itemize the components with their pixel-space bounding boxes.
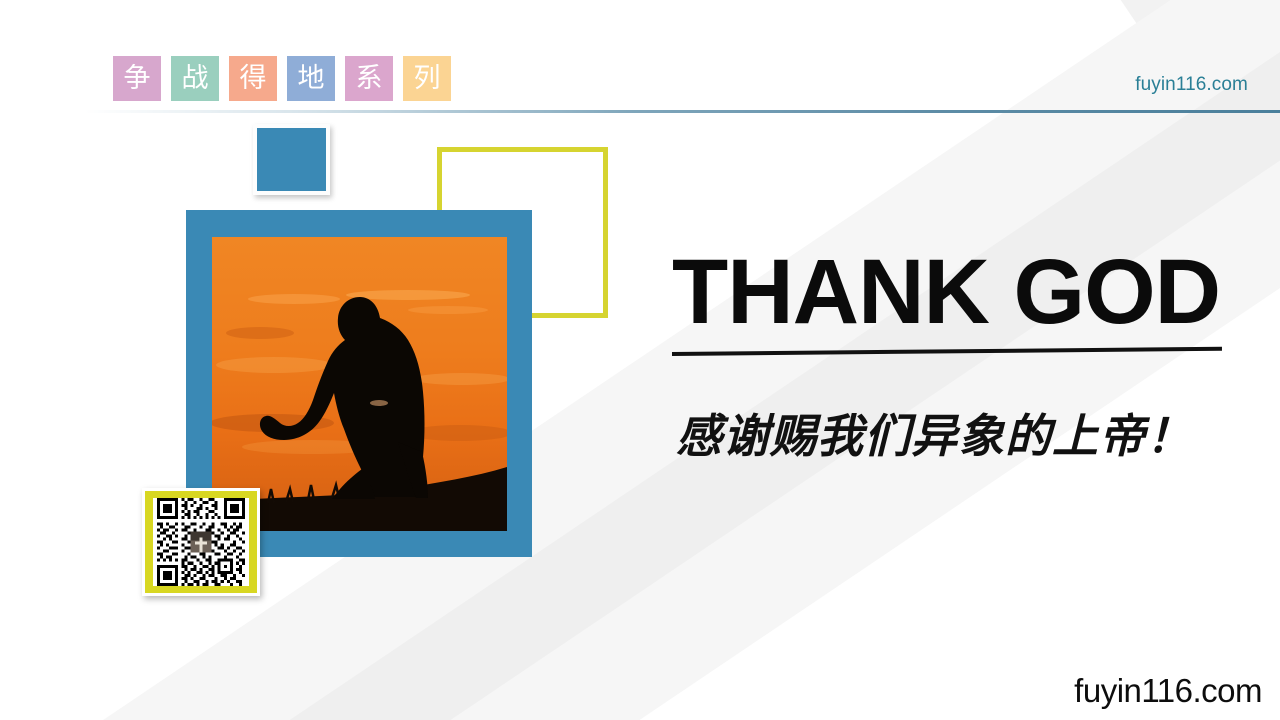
slide-canvas: 争 战 得 地 系 列 fuyin116.com xyxy=(0,0,1280,720)
qr-matrix xyxy=(153,498,249,586)
header-divider-rule xyxy=(85,110,1280,113)
prayer-silhouette-photo xyxy=(212,237,507,531)
qr-yellow-border xyxy=(145,491,257,593)
site-url-top[interactable]: fuyin116.com xyxy=(1135,74,1248,96)
series-title-tiles: 争 战 得 地 系 列 xyxy=(113,56,451,101)
title-underline xyxy=(672,347,1222,356)
series-tile-5: 列 xyxy=(403,56,451,101)
series-tile-1: 战 xyxy=(171,56,219,101)
series-tile-3: 地 xyxy=(287,56,335,101)
series-tile-0: 争 xyxy=(113,56,161,101)
qr-code[interactable] xyxy=(142,488,260,596)
title-block: THANK GOD xyxy=(672,248,1222,356)
page-title: THANK GOD xyxy=(672,248,1222,336)
series-tile-4: 系 xyxy=(345,56,393,101)
series-tile-2: 得 xyxy=(229,56,277,101)
blue-accent-chip xyxy=(253,124,330,195)
page-subtitle: 感谢赐我们异象的上帝！ xyxy=(676,400,1193,466)
site-url-bottom[interactable]: fuyin116.com xyxy=(1074,672,1262,710)
